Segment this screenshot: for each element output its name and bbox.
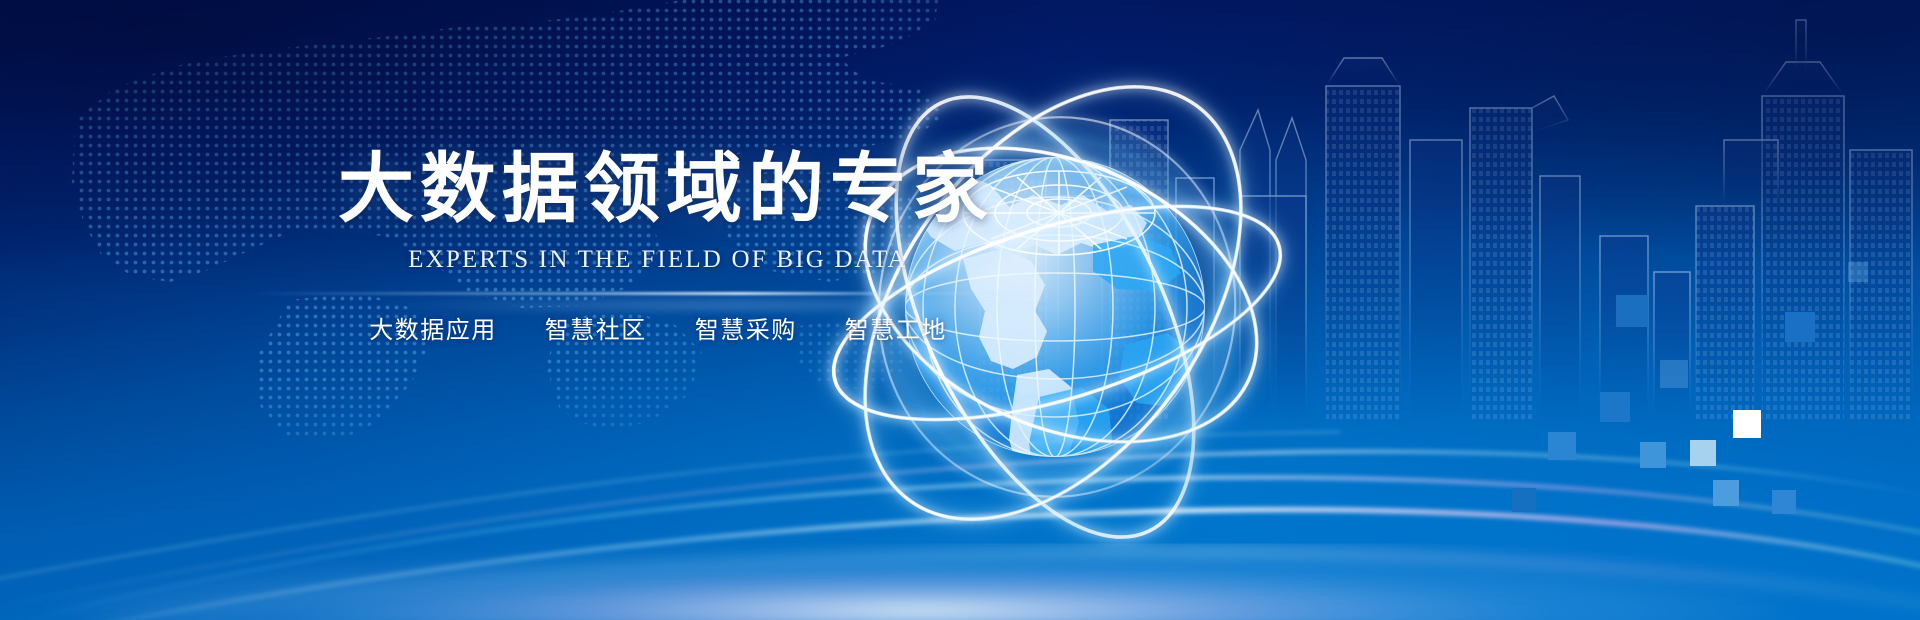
- keyword-item[interactable]: 智慧采购: [695, 310, 797, 345]
- headline-block: 大数据领域的专家 EXPERTS IN THE FIELD OF BIG DAT…: [338, 148, 978, 274]
- subtitle-english: EXPERTS IN THE FIELD OF BIG DATA: [338, 246, 978, 274]
- keyword-item[interactable]: 智慧工地: [845, 310, 947, 345]
- keyword-list: 大数据应用 智慧社区 智慧采购 智慧工地: [338, 310, 978, 345]
- keyword-item[interactable]: 大数据应用: [369, 310, 497, 345]
- divider-line: [250, 292, 1040, 295]
- keyword-item[interactable]: 智慧社区: [545, 310, 647, 345]
- banner-root: 大数据领域的专家 EXPERTS IN THE FIELD OF BIG DAT…: [0, 0, 1920, 620]
- page-title: 大数据领域的专家: [338, 148, 978, 232]
